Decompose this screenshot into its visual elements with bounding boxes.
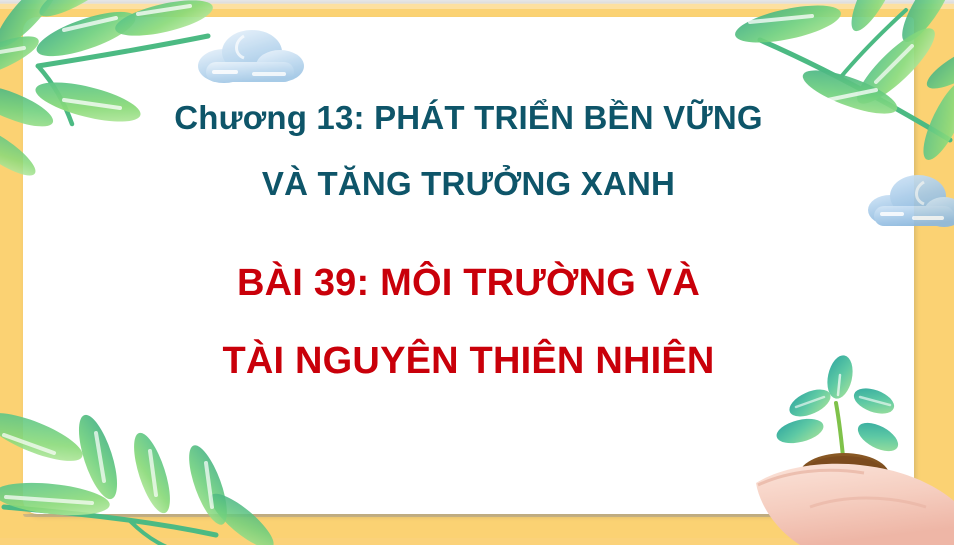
slide-canvas: Chương 13: PHÁT TRIỂN BỀN VỮNG VÀ TĂNG T… (0, 0, 954, 545)
card-bottom-hairline (23, 514, 914, 517)
frame-bottom-highlight (0, 538, 954, 545)
content-card (23, 17, 914, 514)
top-grey-strip (0, 0, 954, 4)
